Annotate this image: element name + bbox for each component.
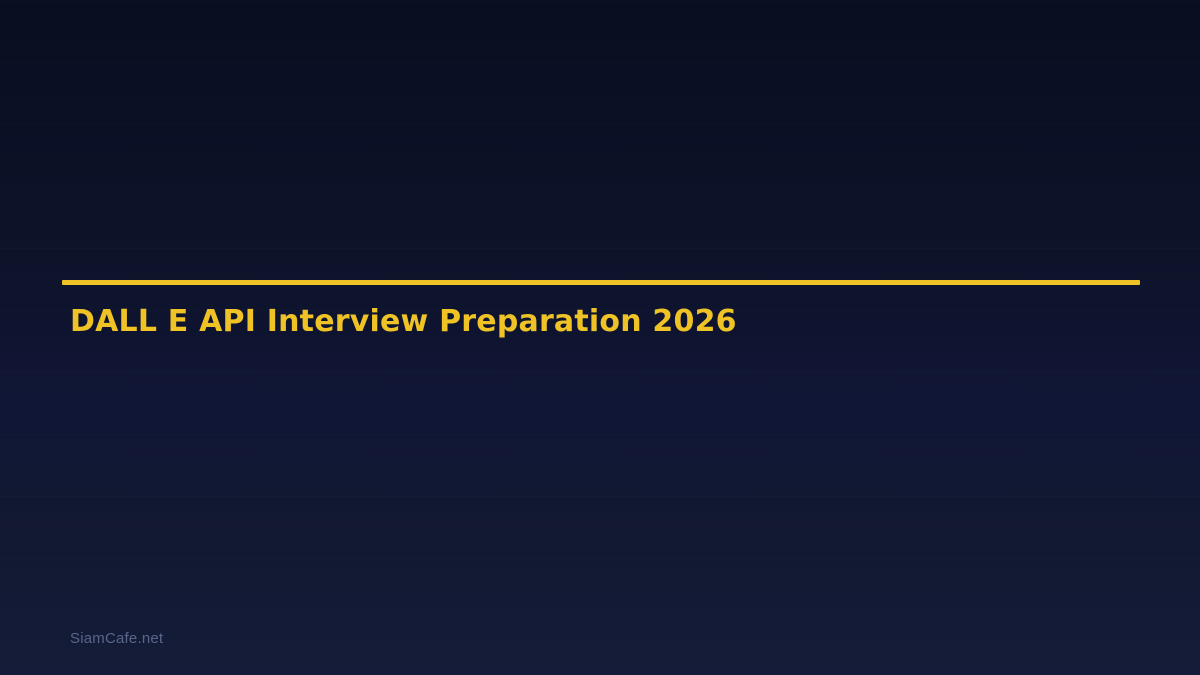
watermark-label: SiamCafe.net bbox=[70, 630, 163, 647]
accent-rule-divider bbox=[62, 280, 1140, 285]
page-title: DALL E API Interview Preparation 2026 bbox=[70, 305, 1140, 340]
slide-canvas: DALL E API Interview Preparation 2026 Si… bbox=[0, 0, 1200, 675]
title-block: DALL E API Interview Preparation 2026 bbox=[62, 280, 1140, 340]
